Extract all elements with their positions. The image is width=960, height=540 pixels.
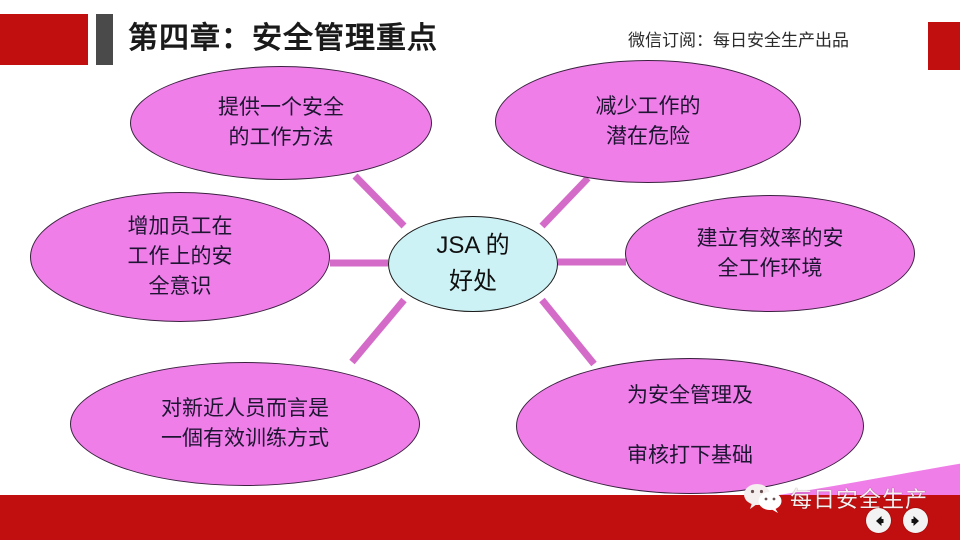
slide-canvas: 第四章：安全管理重点 微信订阅：每日安全生产出品 提供一个安全 的工作方法 减少…	[0, 0, 960, 540]
diagram-node-label: 建立有效率的安 全工作环境	[691, 224, 850, 284]
diagram-node-top-left[interactable]: 提供一个安全 的工作方法	[130, 66, 432, 180]
arrow-right-icon	[909, 514, 923, 528]
diagram-node-label: 对新近人员而言是 一個有效训练方式	[155, 394, 335, 454]
wechat-icon	[742, 483, 784, 513]
diagram-center-label: JSA 的 好处	[430, 228, 515, 300]
connector-center-to-bottom-left	[352, 300, 404, 362]
diagram-node-label: 减少工作的 潜在危险	[590, 92, 707, 152]
connector-center-to-top-left	[355, 176, 404, 226]
slide-navigation	[866, 508, 928, 533]
diagram-node-label: 提供一个安全 的工作方法	[212, 93, 350, 153]
diagram-node-center[interactable]: JSA 的 好处	[388, 216, 558, 312]
diagram-node-top-right[interactable]: 减少工作的 潜在危险	[495, 60, 801, 183]
diagram-node-bottom-right[interactable]: 为安全管理及 审核打下基础	[516, 358, 864, 494]
connector-center-to-top-right	[542, 178, 588, 226]
diagram-node-label: 为安全管理及 审核打下基础	[621, 381, 759, 471]
connector-center-to-bottom-right	[542, 300, 594, 364]
arrow-left-icon	[872, 514, 886, 528]
prev-slide-button[interactable]	[866, 508, 891, 533]
diagram-node-right[interactable]: 建立有效率的安 全工作环境	[625, 195, 915, 312]
diagram-node-left[interactable]: 增加员工在 工作上的安 全意识	[30, 192, 330, 322]
diagram-node-bottom-left[interactable]: 对新近人员而言是 一個有效训练方式	[70, 362, 420, 486]
next-slide-button[interactable]	[903, 508, 928, 533]
diagram-node-label: 增加员工在 工作上的安 全意识	[122, 212, 239, 302]
